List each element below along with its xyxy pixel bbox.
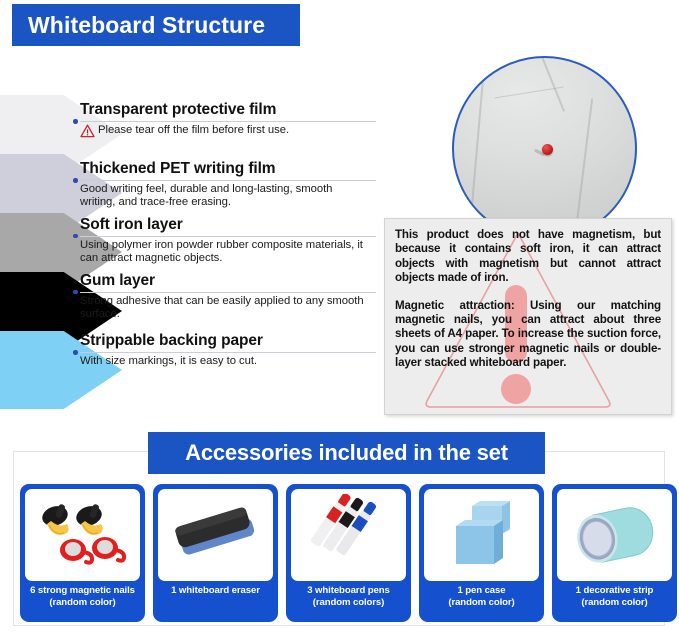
structure-title-banner: Whiteboard Structure	[12, 4, 300, 46]
bullet-dot-icon	[73, 290, 78, 295]
note-paragraph-1: This product does not have magnetism, bu…	[395, 228, 661, 286]
accessory-card-eraser[interactable]: 1 whiteboard eraser	[153, 484, 278, 622]
accessory-card-decorative-strip[interactable]: 1 decorative strip (random color)	[552, 484, 677, 622]
bullet-dot-icon	[73, 234, 78, 239]
layer-description: Please tear off the film before first us…	[98, 124, 380, 137]
layer-description-list: Transparent protective film Please tear …	[80, 100, 380, 371]
markers-icon	[303, 494, 395, 576]
layer-divider	[80, 352, 376, 353]
accessory-label: 1 whiteboard eraser	[171, 585, 260, 597]
layer-item-gum: Gum layer Strong adhesive that can be ea…	[80, 271, 380, 322]
eraser-icon	[167, 500, 265, 570]
layer-title: Thickened PET writing film	[80, 159, 380, 178]
accessories-card-list: 6 strong magnetic nails (random color) 1…	[20, 484, 660, 622]
accessories-section: Accessories included in the set	[0, 430, 679, 638]
bullet-dot-icon	[73, 350, 78, 355]
accessory-thumbnail	[291, 489, 406, 581]
page-title: Whiteboard Structure	[12, 12, 265, 39]
pen-case-icon	[442, 496, 522, 574]
accessory-thumbnail	[25, 489, 140, 581]
accessory-label: 6 strong magnetic nails (random color)	[30, 585, 135, 608]
layer-title: Strippable backing paper	[80, 331, 380, 350]
accessories-title-banner: Accessories included in the set	[148, 432, 545, 474]
bullet-dot-icon	[73, 178, 78, 183]
layer-title: Soft iron layer	[80, 215, 380, 234]
layer-item-soft-iron: Soft iron layer Using polymer iron powde…	[80, 215, 380, 266]
layer-description: Using polymer iron powder rubber composi…	[80, 239, 370, 266]
layer-title: Gum layer	[80, 271, 380, 290]
bullet-dot-icon	[73, 119, 78, 124]
layer-divider	[80, 292, 376, 293]
accessory-card-pen-case[interactable]: 1 pen case (random color)	[419, 484, 544, 622]
whiteboard-structure-section: Whiteboard Structure Transparent protect…	[0, 0, 679, 430]
layer-item-backing-paper: Strippable backing paper With size marki…	[80, 331, 380, 368]
accessory-card-markers[interactable]: 3 whiteboard pens (random colors)	[286, 484, 411, 622]
accessories-heading: Accessories included in the set	[185, 440, 508, 466]
magnetic-nails-icon	[33, 494, 133, 576]
layer-description: Strong adhesive that can be easily appli…	[80, 295, 370, 322]
magnetic-pin-icon	[542, 144, 553, 155]
accessory-thumbnail	[557, 489, 672, 581]
layer-description: Good writing feel, durable and long-last…	[80, 183, 370, 210]
accessory-thumbnail	[424, 489, 539, 581]
note-paragraph-2: Magnetic attraction: Using our matching …	[395, 299, 661, 371]
accessory-label: 1 decorative strip (random color)	[576, 585, 654, 608]
accessory-label: 3 whiteboard pens (random colors)	[307, 585, 390, 608]
layer-divider	[80, 180, 376, 181]
layer-item-pet-film: Thickened PET writing film Good writing …	[80, 159, 380, 210]
layer-divider	[80, 236, 376, 237]
layer-item-transparent-film: Transparent protective film Please tear …	[80, 100, 380, 143]
tape-roll-icon	[569, 499, 661, 571]
layer-title: Transparent protective film	[80, 100, 380, 119]
product-photo-circle	[452, 56, 637, 241]
magnetism-note-box: This product does not have magnetism, bu…	[384, 218, 672, 415]
accessory-thumbnail	[158, 489, 273, 581]
layer-description: With size markings, it is easy to cut.	[80, 355, 370, 368]
accessory-card-magnetic-nails[interactable]: 6 strong magnetic nails (random color)	[20, 484, 145, 622]
accessory-label: 1 pen case (random color)	[448, 585, 514, 608]
layer-divider	[80, 121, 376, 122]
warning-triangle-icon	[80, 124, 95, 143]
